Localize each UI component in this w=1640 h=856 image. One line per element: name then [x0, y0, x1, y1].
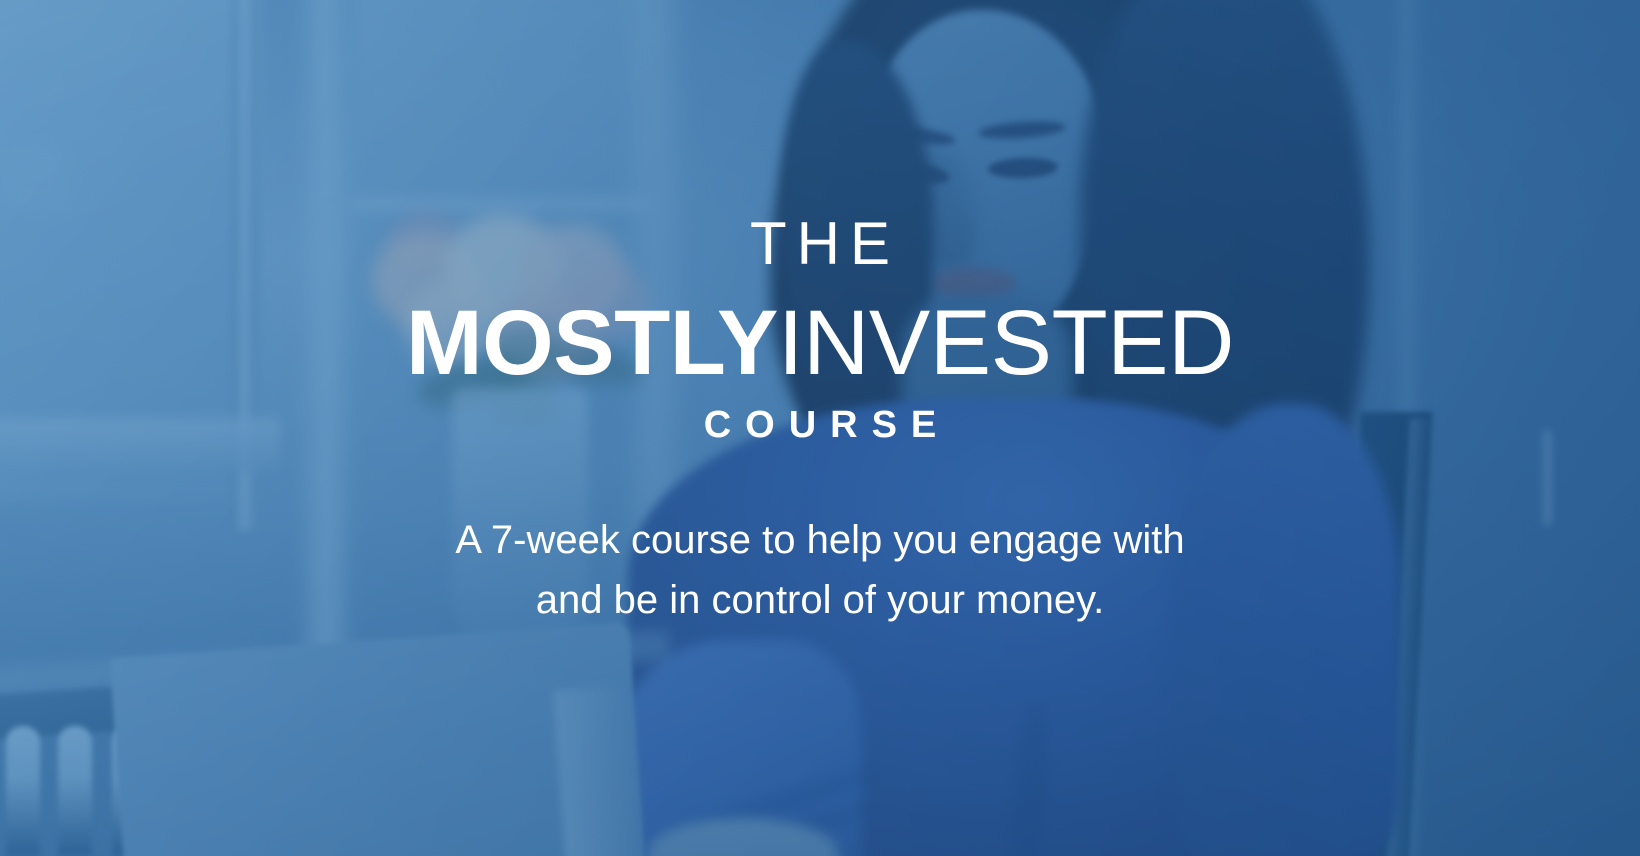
hero-tagline: A 7-week course to help you engage with …: [455, 510, 1184, 632]
brand-wordmark-bold: MOSTLY: [406, 292, 778, 394]
hero-text-block: THE MOSTLYINVESTED COURSE A 7-week cours…: [0, 0, 1640, 856]
hero-tagline-line-2: and be in control of your money.: [455, 570, 1184, 631]
brand-wordmark: MOSTLYINVESTED: [406, 296, 1234, 392]
brand-subword: COURSE: [690, 406, 951, 444]
hero-tagline-line-1: A 7-week course to help you engage with: [455, 510, 1184, 571]
brand-kicker: THE: [740, 214, 900, 274]
course-hero-banner: THE MOSTLYINVESTED COURSE A 7-week cours…: [0, 0, 1640, 856]
brand-wordmark-light: INVESTED: [778, 292, 1234, 394]
